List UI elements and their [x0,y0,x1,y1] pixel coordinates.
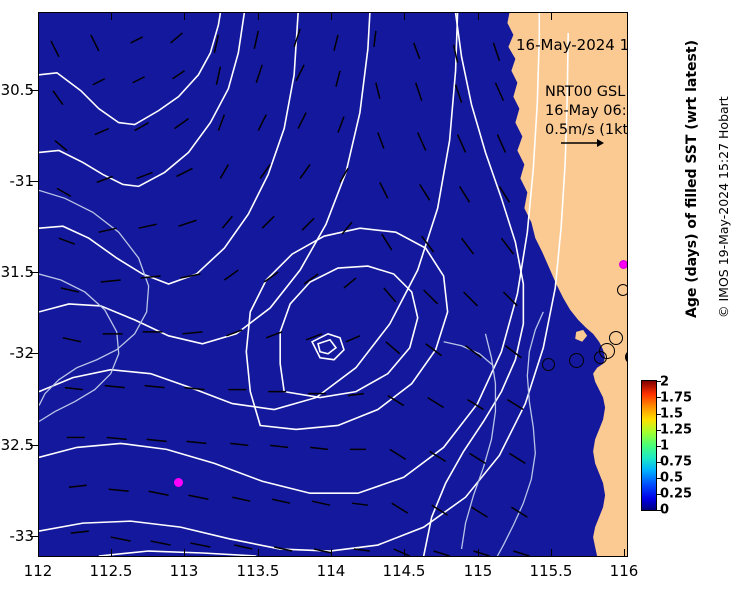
argo-float-marker [174,478,183,487]
x-tick-label: 112.5 [90,562,133,580]
y-tick-label: -32.5 [0,436,34,454]
x-tick-mark [624,549,625,557]
x-tick-mark [551,549,552,557]
x-tick-mark [111,549,112,557]
colorbar-tick-label: 1.5 [660,407,683,422]
x-tick-label: 114.5 [383,562,426,580]
x-tick-label: 114 [317,562,346,580]
x-tick-label: 115.5 [530,562,573,580]
x-tick-mark [478,549,479,557]
y-tick-mark [30,90,38,91]
current-time-label: 16-May 06:00Z [545,102,628,121]
colorbar-title: Age (days) of filled SST (wrt latest) [684,40,700,318]
ship-legend-marker-icon [617,284,628,296]
x-tick-mark-top [258,12,259,20]
current-product-label: NRT00 GSL [545,83,625,102]
colorbar-tick-label: 1.25 [660,423,692,438]
credit-label: © IMOS 19-May-2024 15:27 Hobart [716,96,731,318]
x-tick-label: 116 [610,562,639,580]
y-tick-label: -30.5 [0,81,34,99]
x-tick-mark-top [478,12,479,20]
x-tick-label: 112 [24,562,53,580]
x-tick-mark [331,549,332,557]
ship-marker [569,353,584,368]
x-tick-mark [184,549,185,557]
velocity-scale-arrow-icon [559,137,605,149]
x-tick-mark-top [331,12,332,20]
argo-legend-marker-icon [619,260,628,269]
y-tick-mark [30,353,38,354]
x-tick-mark [258,549,259,557]
ship-marker [594,351,607,364]
colorbar-tick-label: 0.25 [660,487,692,502]
x-tick-label: 113.5 [237,562,280,580]
x-tick-mark-top [184,12,185,20]
colorbar-tick-label: 0 [660,503,669,518]
map-plot-area[interactable]: 16-May-2024 16Z 200m 1000m NRT00 GSL 16-… [38,12,628,557]
colorbar-tick-label: 0.75 [660,455,692,470]
contour-and-vector-layer [39,13,627,556]
x-tick-mark-top [111,12,112,20]
x-tick-label: 113 [170,562,199,580]
x-tick-mark-top [551,12,552,20]
ship-marker [609,331,623,345]
ship-marker [542,358,555,371]
sst-age-map-figure: 16-May-2024 16Z 200m 1000m NRT00 GSL 16-… [0,0,740,592]
colorbar [641,380,657,511]
x-tick-label: 115 [464,562,493,580]
x-tick-mark [404,549,405,557]
y-tick-mark [30,181,38,182]
timestamp-label: 16-May-2024 16Z [516,36,628,54]
x-tick-mark-top [404,12,405,20]
y-tick-mark [30,536,38,537]
y-tick-label: -31.5 [0,263,34,281]
colorbar-tick-label: 0.5 [660,471,683,486]
y-tick-mark [30,272,38,273]
colorbar-tick-label: 2 [660,375,669,390]
y-tick-mark [30,445,38,446]
colorbar-tick-label: 1 [660,439,669,454]
colorbar-tick-label: 1.75 [660,391,692,406]
